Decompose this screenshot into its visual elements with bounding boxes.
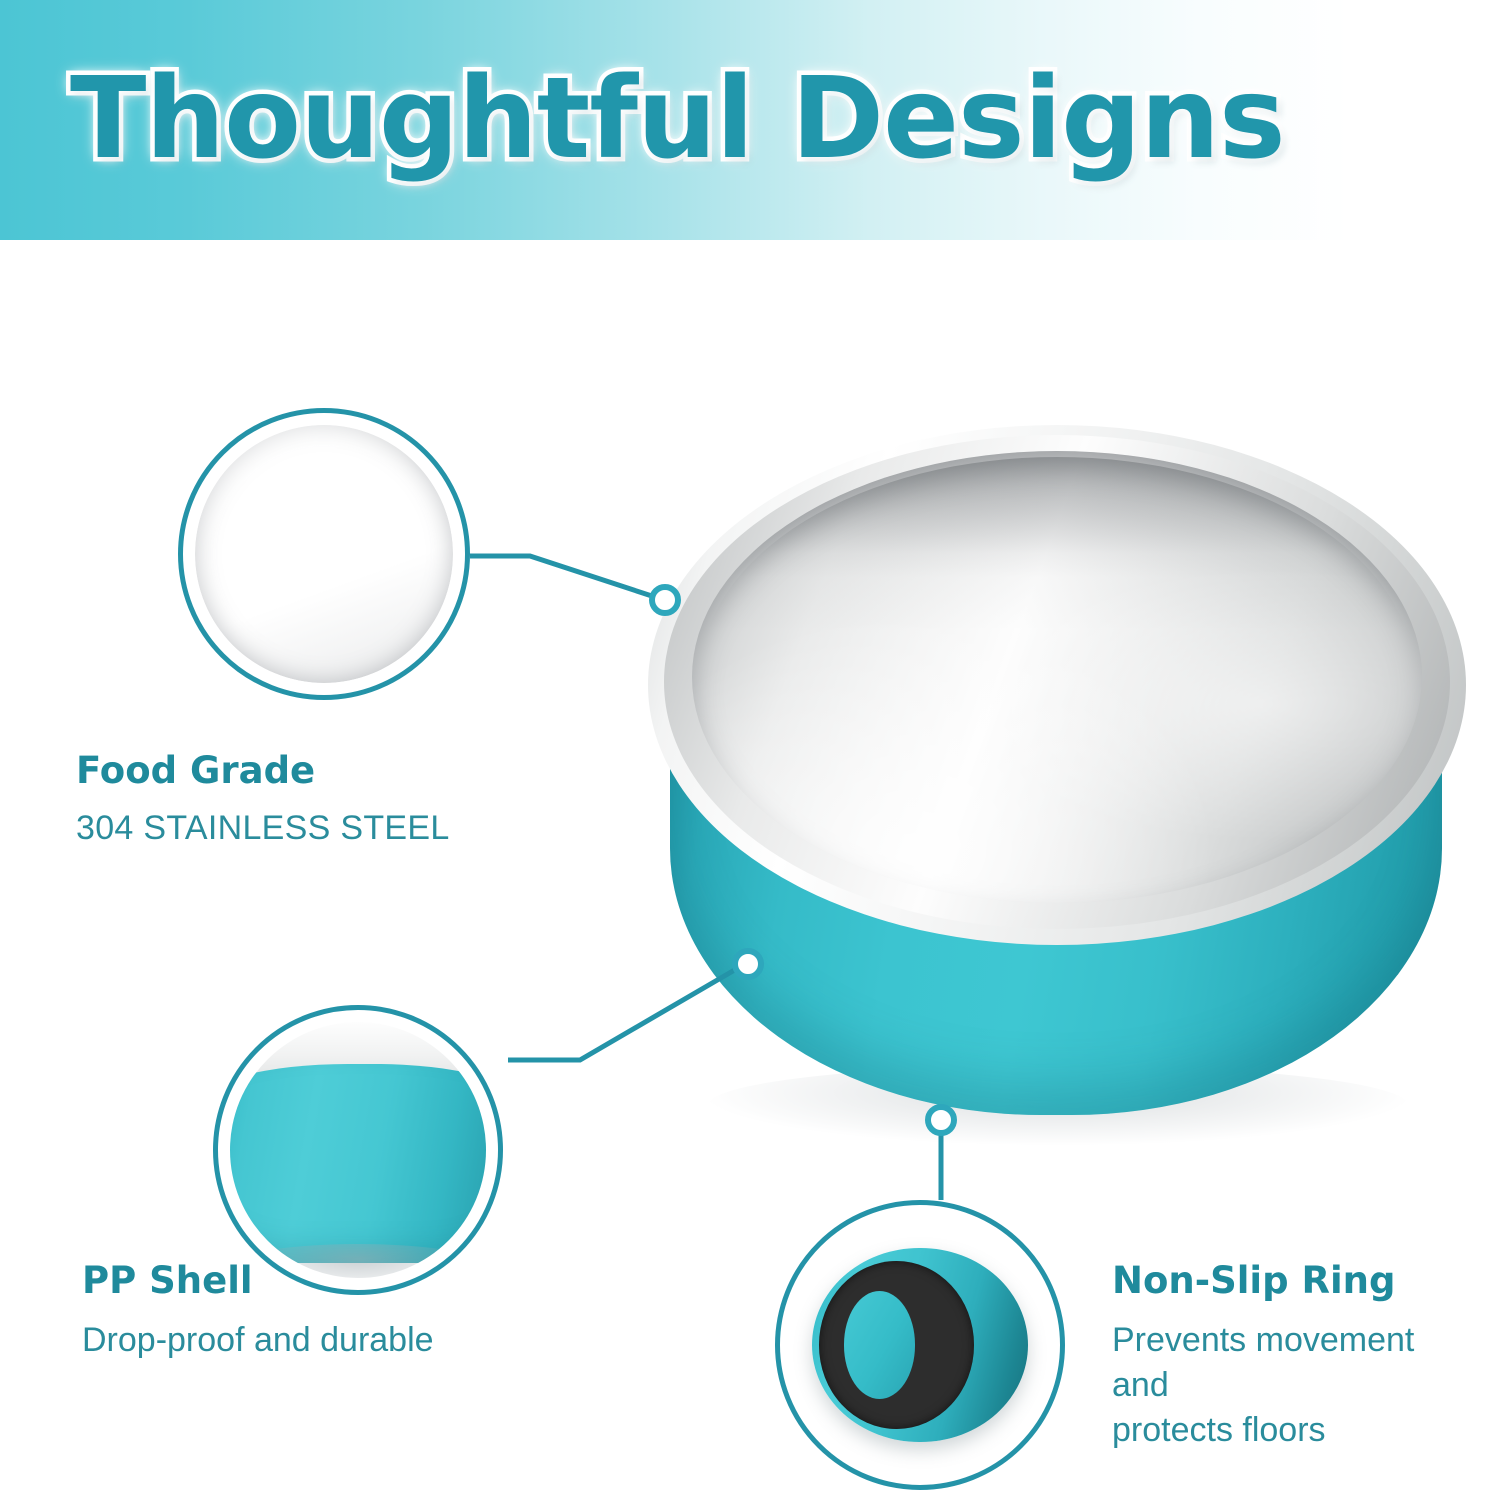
feature-text-non-slip-ring: Non-Slip Ring Prevents movement and prot…: [1112, 1258, 1472, 1453]
feature-text-pp-shell: PP Shell Drop-proof and durable: [82, 1258, 434, 1363]
callout-circle-pp-shell: [213, 1005, 503, 1295]
callout-circle-food-grade: [178, 408, 470, 700]
callout-inner-food-grade: [195, 425, 453, 683]
steel-disc-sheen: [195, 425, 453, 683]
callout-circle-non-slip-ring: [775, 1200, 1065, 1490]
feature-description-non-slip-ring: Prevents movement and protects floors: [1112, 1318, 1472, 1453]
bowl-bottom-teal-body: [812, 1248, 1027, 1443]
feature-text-food-grade: Food Grade 304 STAINLESS STEEL: [76, 748, 450, 851]
brushed-steel-disc-icon: [195, 425, 453, 683]
feature-title-pp-shell: PP Shell: [82, 1258, 434, 1304]
feature-title-food-grade: Food Grade: [76, 748, 450, 794]
feature-description-food-grade: 304 STAINLESS STEEL: [76, 806, 450, 851]
pp-shell-closeup-icon: [230, 1022, 486, 1278]
bowl-interior-upper-shade: [700, 457, 1414, 895]
bowl-bottom-center: [844, 1291, 915, 1398]
feature-title-non-slip-ring: Non-Slip Ring: [1112, 1258, 1472, 1304]
non-slip-rubber-ring: [819, 1261, 974, 1428]
infographic-page: Thoughtful Designs: [0, 0, 1500, 1500]
bowl-bottom-closeup-icon: [792, 1217, 1048, 1473]
feature-description-pp-shell: Drop-proof and durable: [82, 1318, 434, 1363]
pp-shell-teal-body: [230, 1064, 486, 1263]
callout-inner-pp-shell: [230, 1022, 486, 1278]
feature-description-line-1: Prevents movement and: [1112, 1318, 1472, 1408]
callout-inner-non-slip-ring: [792, 1217, 1048, 1473]
page-title: Thoughtful Designs: [70, 60, 1285, 178]
product-bowl-image: [648, 405, 1466, 1135]
feature-description-line-2: protects floors: [1112, 1408, 1472, 1453]
